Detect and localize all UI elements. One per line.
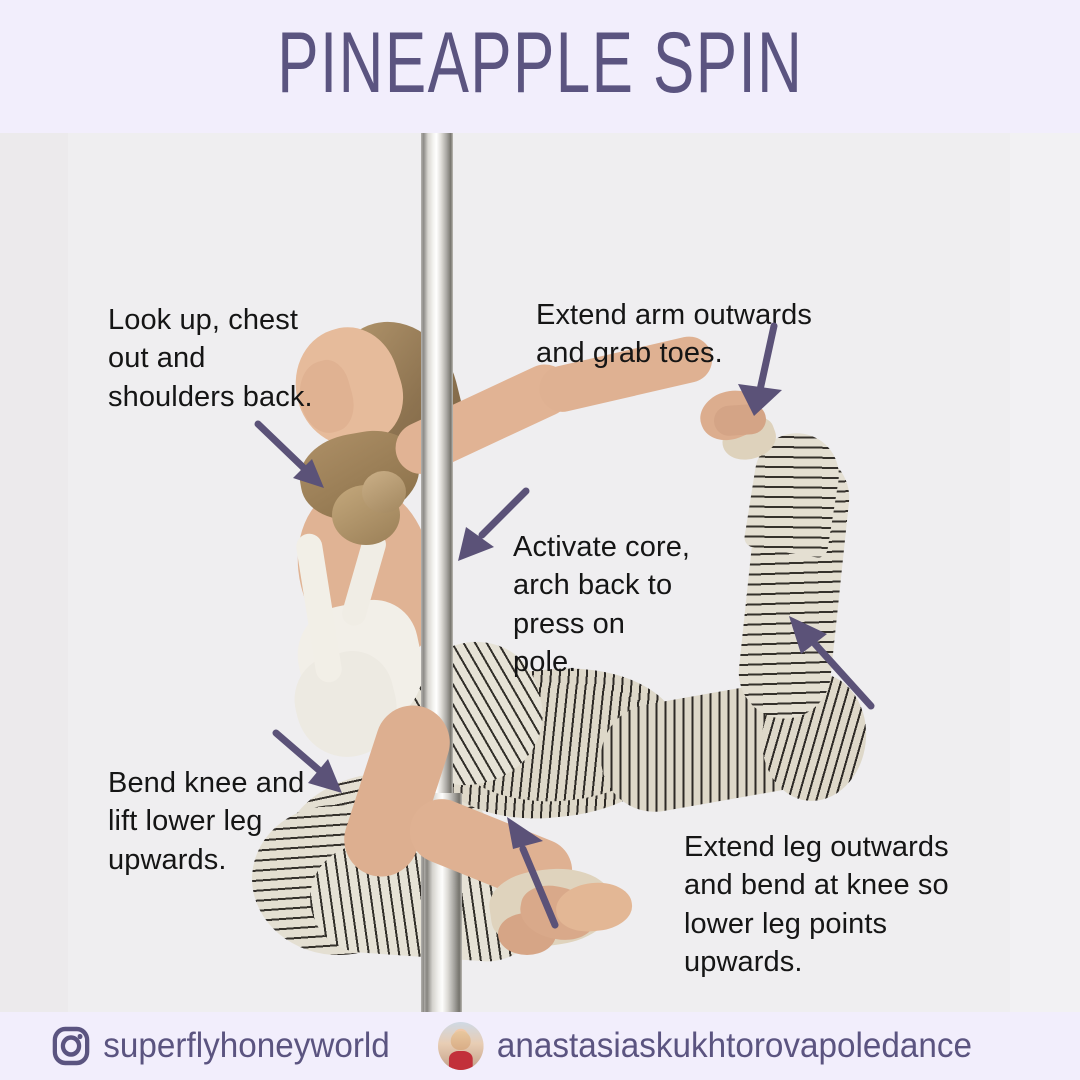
arrow-down-extend-arm [730,318,810,428]
instagram-icon [52,1026,90,1066]
header-bar: PINEAPPLE SPIN [0,0,1080,133]
annotation-look-up: Look up, chest out and shoulders back. [108,301,348,416]
infographic-poster: PINEAPPLE SPIN [0,0,1080,1080]
annotation-activate-core: Activate core, arch back to press on pol… [513,528,728,681]
avatar [438,1022,484,1070]
arrow-up-left-extend-leg [775,606,885,716]
account-anastasiaskukhtorovapoledance[interactable]: anastasiaskukhtorovapoledance [438,1022,972,1070]
photo-stage: Look up, chest out and shoulders back. E… [0,133,1080,1012]
arrow-down-left-activate-core [448,483,538,573]
account-superflyhoneyworld[interactable]: superflyhoneyworld [52,1026,390,1066]
arrow-up-left-extend-arm-down [495,805,585,935]
arrow-down-right-bend-knee [268,723,358,803]
handle-label-2: anastasiaskukhtorovapoledance [496,1026,971,1066]
handle-label-1: superflyhoneyworld [103,1026,389,1066]
annotation-extend-leg: Extend leg outwards and bend at knee so … [684,828,1004,981]
arrow-down-right-look-up [250,418,340,498]
footer-bar: superflyhoneyworld anastasiaskukhtorovap… [0,1012,1080,1080]
page-title: PINEAPPLE SPIN [277,20,803,114]
